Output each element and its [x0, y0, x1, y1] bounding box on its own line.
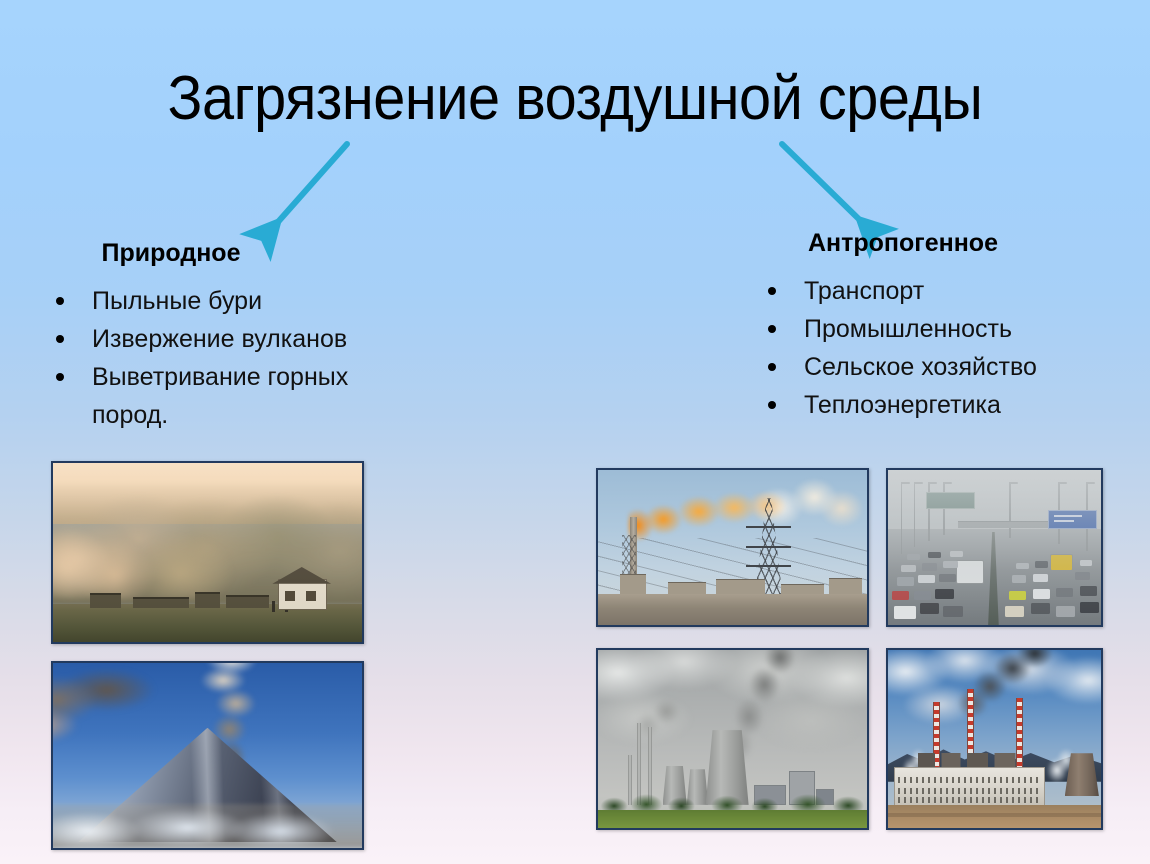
- list-item-label-continued: пород.: [92, 396, 466, 434]
- natural-bullet-list: Пыльные бури Извержение вулканов Выветри…: [36, 282, 466, 434]
- anthropogenic-bullet-list: Транспорт Промышленность Сельское хозяйс…: [748, 272, 1148, 424]
- bullet-dot-icon: [56, 335, 64, 343]
- pylon-arm: [746, 526, 791, 528]
- list-item-label: Сельское хозяйство: [804, 353, 1037, 381]
- smog-haze-overlay: [888, 470, 1101, 625]
- factory-building: [829, 578, 861, 595]
- power-station-building: [894, 767, 1045, 806]
- page-title: Загрязнение воздушной среды: [40, 62, 1110, 136]
- list-item-label: Извержение вулканов: [92, 325, 347, 353]
- list-item-label: Теплоэнергетика: [804, 391, 1001, 419]
- green-field: [598, 810, 867, 828]
- thermal-plant-photo: [886, 648, 1103, 830]
- bullet-dot-icon: [768, 401, 776, 409]
- list-item: Транспорт: [748, 272, 1148, 310]
- list-item: Сельское хозяйство: [748, 348, 1148, 386]
- cooling-towers-photo: [596, 648, 869, 830]
- bullet-dot-icon: [768, 325, 776, 333]
- window-row: [898, 777, 1041, 783]
- traffic-smog-photo: [886, 468, 1103, 627]
- tree-line: [598, 792, 867, 812]
- list-item-label: Транспорт: [804, 277, 924, 305]
- pylon-arm: [746, 546, 791, 548]
- list-item-label: Пыльные бури: [92, 287, 262, 315]
- window-row: [898, 788, 1041, 794]
- list-item: Извержение вулканов: [36, 320, 466, 358]
- factory-building: [620, 574, 647, 594]
- list-item: Выветривание горных пород.: [36, 358, 466, 434]
- list-item: Промышленность: [748, 310, 1148, 348]
- black-smoke-plume: [943, 650, 1067, 718]
- list-item-label: Выветривание горных: [92, 363, 348, 391]
- bullet-dot-icon: [56, 373, 64, 381]
- bullet-dot-icon: [56, 297, 64, 305]
- pylon-arm: [746, 565, 791, 567]
- natural-column-heading: Природное: [36, 238, 466, 268]
- bullet-dot-icon: [768, 287, 776, 295]
- anthropogenic-column-heading: Антропогенное: [748, 228, 1148, 258]
- factory-plume-photo: [596, 468, 869, 627]
- anthropogenic-sources-column: Антропогенное Транспорт Промышленность С…: [748, 228, 1148, 424]
- factory-building: [668, 582, 706, 594]
- dust-storm-photo: [51, 461, 364, 644]
- arrow-to-natural-icon: [246, 136, 366, 246]
- bare-ground: [888, 805, 1101, 828]
- list-item-label: Промышленность: [804, 315, 1012, 343]
- list-item: Теплоэнергетика: [748, 386, 1148, 424]
- factory-building: [781, 584, 824, 594]
- bullet-dot-icon: [768, 363, 776, 371]
- list-item: Пыльные бури: [36, 282, 466, 320]
- natural-sources-column: Природное Пыльные бури Извержение вулкан…: [36, 238, 466, 434]
- factory-building: [716, 579, 764, 594]
- volcano-photo: [51, 661, 364, 850]
- dust-sepia-veil: [53, 463, 362, 642]
- factory-skyline: [598, 594, 867, 625]
- slide: Загрязнение воздушной среды Природное Пы…: [0, 0, 1150, 864]
- window-row: [898, 797, 1041, 803]
- volcano-base-cloud: [53, 804, 362, 848]
